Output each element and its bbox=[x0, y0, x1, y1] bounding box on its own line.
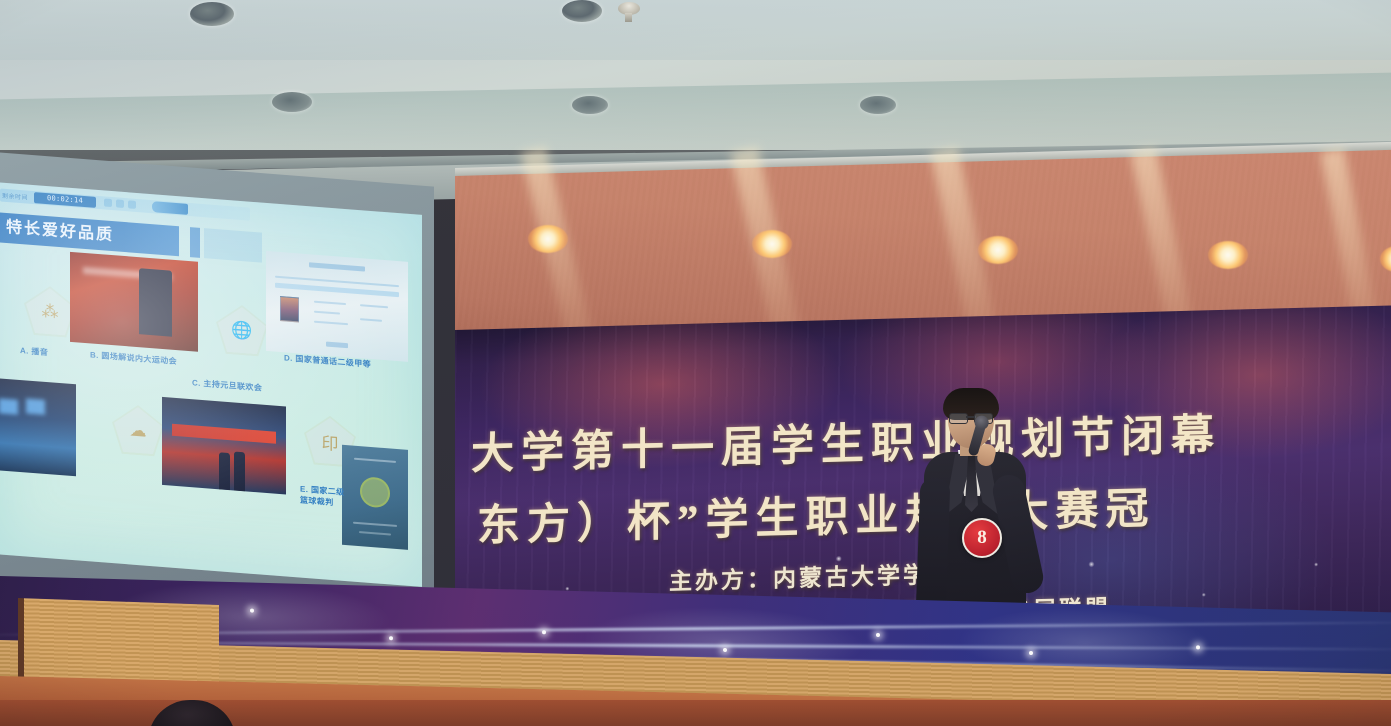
ceiling-downlight-icon bbox=[860, 96, 896, 114]
wall-spotlight-icon bbox=[528, 225, 568, 253]
ceiling-downlight-icon bbox=[562, 0, 602, 22]
projection-screen: 剩余时间 00:02:14 特长爱好品质 ⁂ 🌐 ☁ 印 bbox=[0, 182, 422, 587]
arm-left bbox=[916, 478, 951, 619]
wall-spotlight-icon bbox=[752, 230, 792, 258]
wall-spotlight-icon bbox=[978, 236, 1018, 264]
wall-spotlight-icon bbox=[1208, 241, 1248, 269]
ceiling-downlight-icon bbox=[272, 92, 312, 112]
ceiling-downlight-icon bbox=[572, 96, 608, 114]
contestant-number-badge: 8 bbox=[962, 518, 1002, 558]
screen-glare bbox=[0, 182, 422, 587]
ceiling-downlight-icon bbox=[190, 2, 234, 26]
smoke-detector-icon bbox=[618, 2, 640, 15]
stage-photo-scene: 大学第十一届学生职业规划节闭幕 东方）杯”学生职业规划大赛冠 主办方：内蒙古大学… bbox=[0, 0, 1391, 726]
